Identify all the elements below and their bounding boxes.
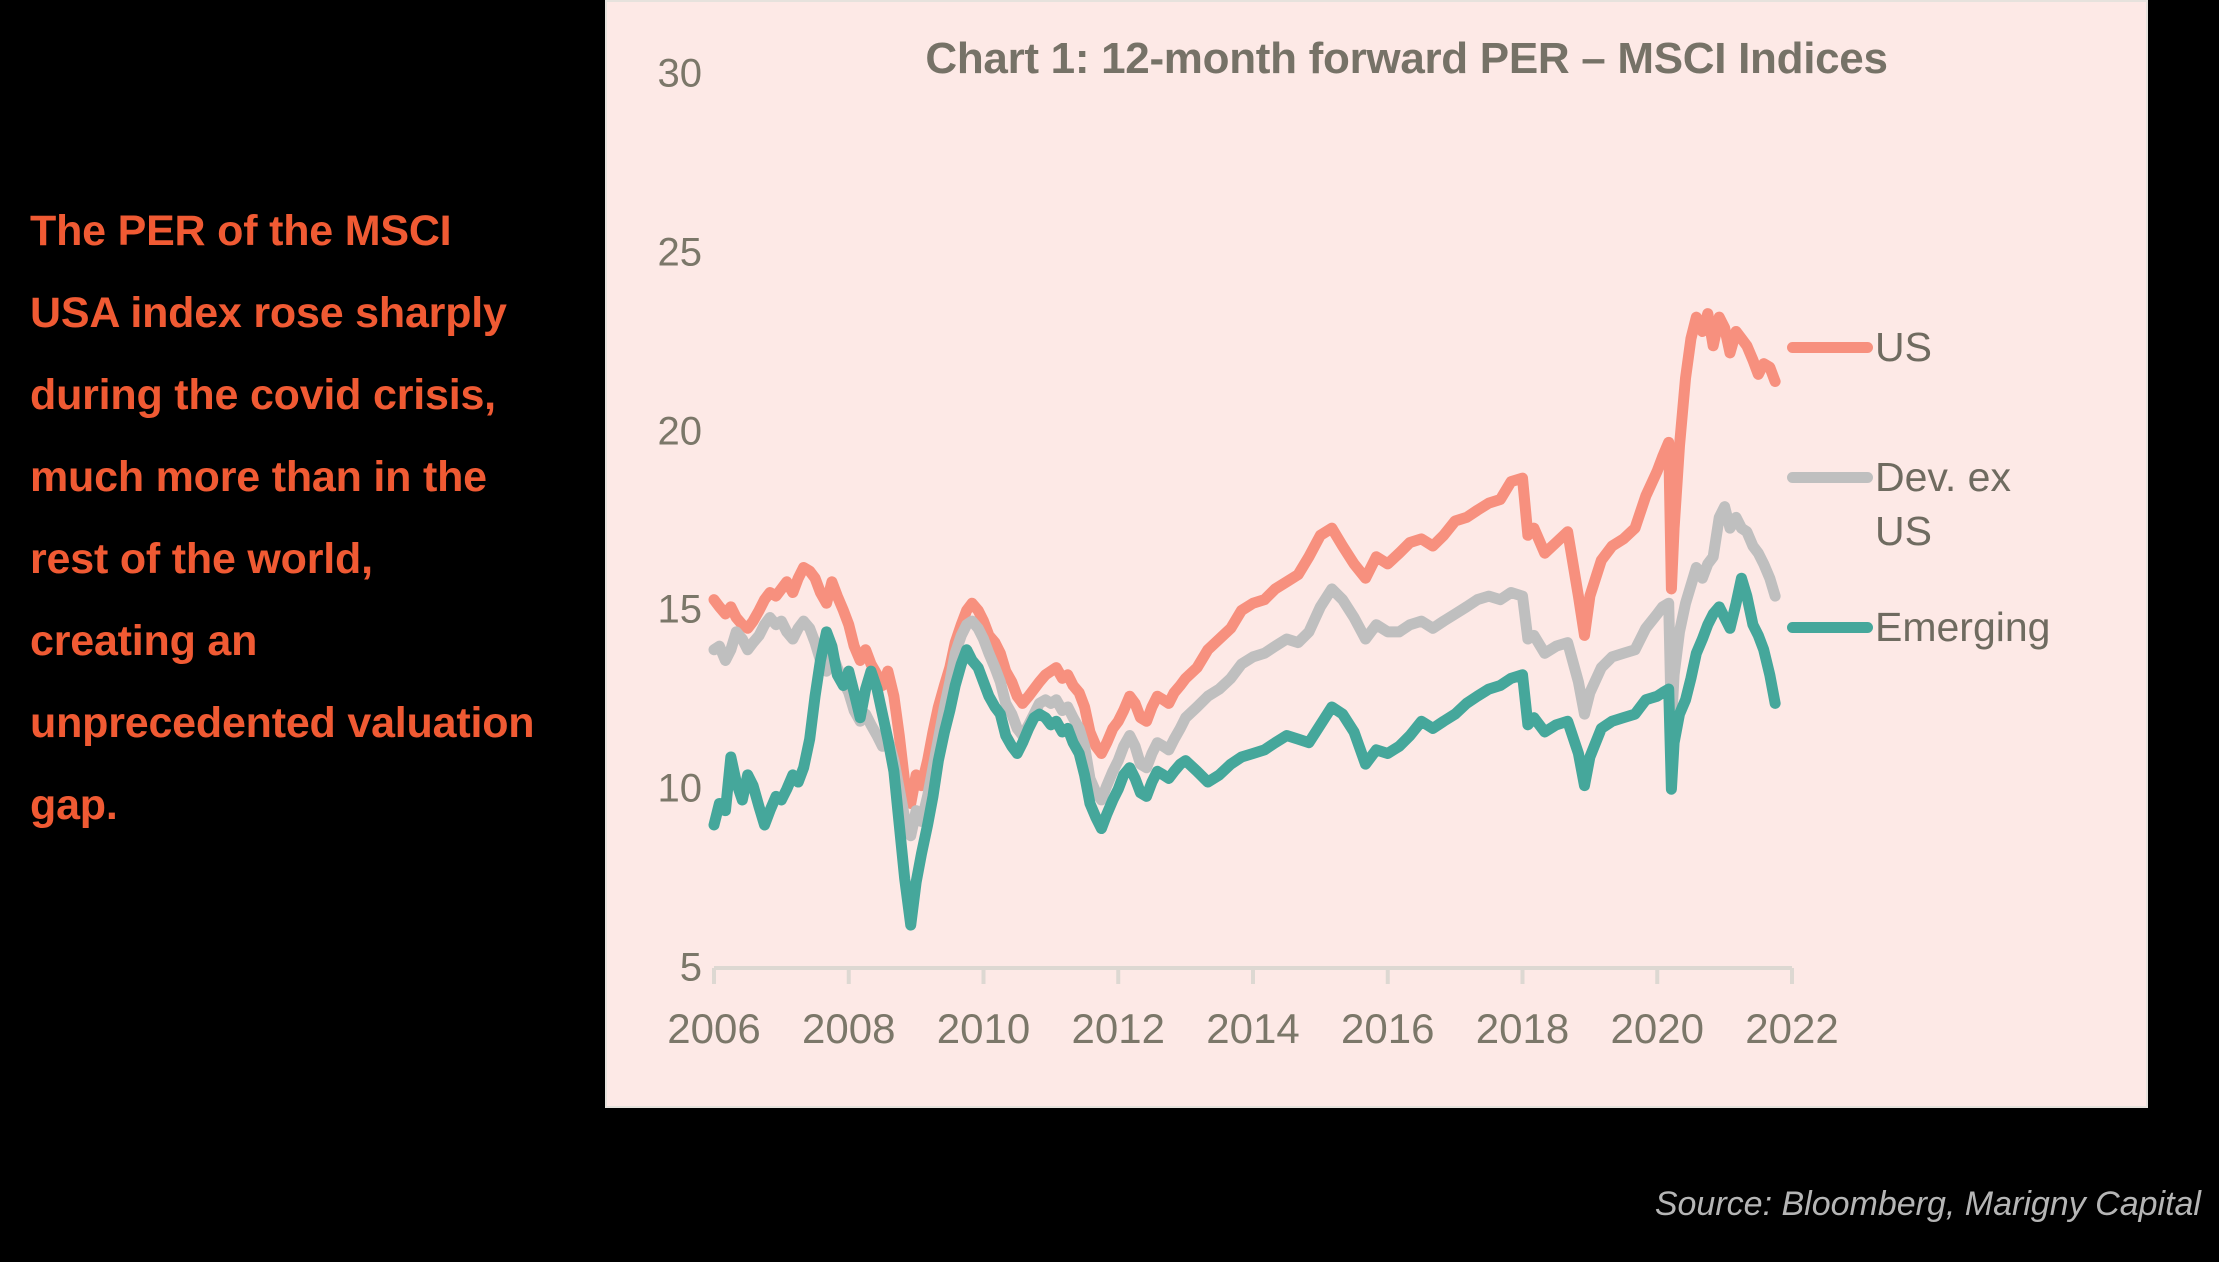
- legend-swatch-icon: [1787, 622, 1873, 633]
- x-tick-2016: 2016: [1318, 1005, 1458, 1053]
- source-note: Source: Bloomberg, Marigny Capital: [1655, 1185, 2201, 1224]
- x-tick-2010: 2010: [914, 1005, 1054, 1053]
- legend-label: US: [1875, 320, 1932, 374]
- x-tick-2012: 2012: [1048, 1005, 1188, 1053]
- x-tick-2020: 2020: [1587, 1005, 1727, 1053]
- x-tick-2008: 2008: [779, 1005, 919, 1053]
- legend-swatch-icon: [1787, 472, 1873, 483]
- legend-entry-dev-ex-us[interactable]: Dev. ex US: [1787, 450, 2011, 558]
- chart-legend: USDev. ex USEmerging: [1787, 2, 2147, 1110]
- x-tick-2014: 2014: [1183, 1005, 1323, 1053]
- legend-entry-us[interactable]: US: [1787, 320, 1932, 374]
- legend-swatch-icon: [1787, 342, 1873, 353]
- legend-label: Dev. ex US: [1875, 450, 2011, 558]
- commentary-text: The PER of the MSCI USA index rose sharp…: [30, 190, 550, 846]
- x-tick-2018: 2018: [1453, 1005, 1593, 1053]
- legend-label: Emerging: [1875, 600, 2050, 654]
- legend-entry-emerging[interactable]: Emerging: [1787, 600, 2050, 654]
- x-tick-2006: 2006: [644, 1005, 784, 1053]
- chart-panel: Chart 1: 12-month forward PER – MSCI Ind…: [605, 0, 2148, 1108]
